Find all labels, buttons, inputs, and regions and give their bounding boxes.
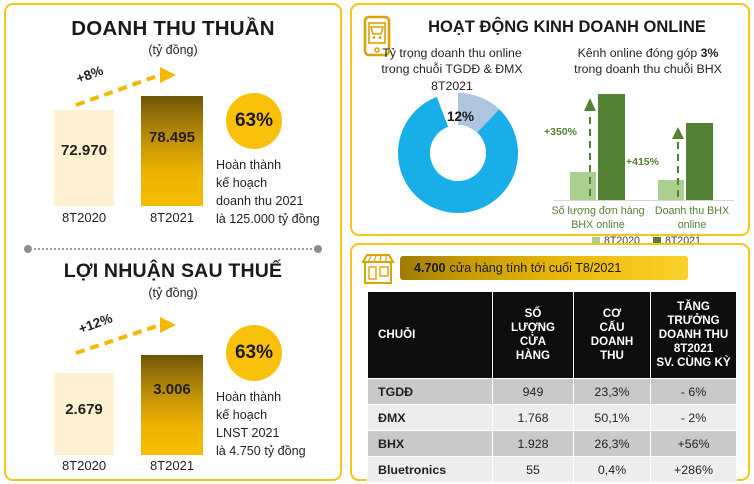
table-body: TGDĐ 949 23,3% - 6% ĐMX 1.768 50,1% - 2%… (368, 379, 737, 483)
bhx-revenue-growth-arrow-icon (672, 125, 684, 199)
row-chain-name: Bluetronics (368, 457, 493, 483)
table-header: CHUỖI SỐ LƯỢNG CỬA HÀNG CƠ CẤU DOANH THU… (368, 292, 737, 379)
left-panel: DOANH THU THUẦN (tỷ đồng) +8% 72.970 8T2… (4, 3, 342, 481)
online-subtitle-right-post: trong doanh thu chuỗi BHX (574, 62, 722, 76)
row-chain-name: ĐMX (368, 405, 493, 431)
store-count-value: 4.700 (414, 261, 446, 275)
bhx-revenue-bar-2021 (686, 123, 713, 200)
profit-completion-badge: 63% (226, 325, 282, 381)
profit-bar-2020-label: 8T2020 (46, 458, 122, 473)
revenue-bar-2020-value: 72.970 (54, 142, 114, 159)
store-count-text: cửa hàng tính tới cuối T8/2021 (450, 261, 622, 275)
online-subtitle-right-pre: Kênh online đóng góp (578, 46, 701, 60)
profit-growth-arrow-icon (68, 313, 183, 358)
revenue-bar-2021 (141, 96, 203, 206)
bar-chart-axis (554, 200, 734, 201)
row-revenue-growth: +286% (651, 457, 737, 483)
bhx-orders-growth-label: +350% (544, 126, 577, 138)
revenue-bar-2021-value: 78.495 (139, 129, 205, 146)
revenue-unit: (tỷ đồng) (6, 43, 340, 57)
table-row: Bluetronics 55 0,4% +286% (368, 457, 737, 483)
row-revenue-growth: - 6% (651, 379, 737, 405)
profit-note: Hoàn thành kế hoạch LNST 2021 là 4.750 t… (216, 389, 340, 461)
revenue-bar-2021-label: 8T2021 (134, 210, 210, 225)
bhx-revenue-growth-label: +415% (626, 156, 659, 168)
profit-bar-2021-value: 3.006 (139, 381, 205, 398)
row-revenue-share: 0,4% (574, 457, 651, 483)
divider-line (30, 248, 316, 250)
header-revenue-growth: TĂNG TRƯỞNG DOANH THU 8T2021 SV. CÙNG KỲ (651, 292, 737, 379)
row-store-count: 1.768 (493, 405, 574, 431)
revenue-completion-badge: 63% (226, 93, 282, 149)
table-row: TGDĐ 949 23,3% - 6% (368, 379, 737, 405)
row-revenue-growth: - 2% (651, 405, 737, 431)
bhx-revenue-category-label: Doanh thu BHX online (644, 205, 740, 233)
table-row: ĐMX 1.768 50,1% - 2% (368, 405, 737, 431)
online-subtitle-left: Tỷ trọng doanh thu online trong chuỗi TG… (362, 45, 542, 94)
revenue-bar-2020-label: 8T2020 (46, 210, 122, 225)
table-row: BHX 1.928 26,3% +56% (368, 431, 737, 457)
table-header-row: CHUỖI SỐ LƯỢNG CỬA HÀNG CƠ CẤU DOANH THU… (368, 292, 737, 379)
store-count-banner: 4.700cửa hàng tính tới cuối T8/2021 (400, 256, 688, 280)
store-chain-table: CHUỖI SỐ LƯỢNG CỬA HÀNG CƠ CẤU DOANH THU… (367, 291, 737, 483)
online-business-panel: HOẠT ĐỘNG KINH DOANH ONLINE Tỷ trọng doa… (350, 3, 750, 236)
row-revenue-share: 50,1% (574, 405, 651, 431)
row-chain-name: BHX (368, 431, 493, 457)
row-chain-name: TGDĐ (368, 379, 493, 405)
row-store-count: 949 (493, 379, 574, 405)
row-store-count: 55 (493, 457, 574, 483)
header-store-count: SỐ LƯỢNG CỬA HÀNG (493, 292, 574, 379)
row-revenue-share: 23,3% (574, 379, 651, 405)
profit-bar-2021-label: 8T2021 (134, 458, 210, 473)
bhx-online-bar-chart: +350% +415% Số lượng đơn hàng BHX online… (548, 80, 744, 230)
bhx-orders-growth-arrow-icon (584, 96, 596, 198)
online-subtitle-right-value: 3% (701, 46, 719, 60)
section-divider (24, 245, 322, 253)
row-store-count: 1.928 (493, 431, 574, 457)
revenue-note: Hoàn thành kế hoạch doanh thu 2021 là 12… (216, 157, 340, 229)
header-chain: CHUỖI (368, 292, 493, 379)
online-subtitle-right: Kênh online đóng góp 3% trong doanh thu … (552, 45, 744, 78)
donut-percentage-label: 12% (447, 109, 474, 124)
store-network-panel: 4.700cửa hàng tính tới cuối T8/2021 CHUỖ… (350, 243, 750, 481)
header-revenue-share: CƠ CẤU DOANH THU (574, 292, 651, 379)
profit-title: LỢI NHUẬN SAU THUẾ (6, 260, 340, 283)
profit-bar-2020-value: 2.679 (54, 401, 114, 418)
bhx-orders-category-label: Số lượng đơn hàng BHX online (548, 205, 648, 233)
row-revenue-share: 26,3% (574, 431, 651, 457)
bhx-orders-bar-2021 (598, 94, 625, 200)
storefront-icon (360, 253, 396, 285)
divider-cap-right (314, 245, 322, 253)
row-revenue-growth: +56% (651, 431, 737, 457)
revenue-title: DOANH THU THUẦN (6, 17, 340, 41)
online-panel-title: HOẠT ĐỘNG KINH DOANH ONLINE (390, 18, 744, 37)
profit-unit: (tỷ đồng) (6, 286, 340, 300)
profit-bar-2021 (141, 355, 203, 455)
